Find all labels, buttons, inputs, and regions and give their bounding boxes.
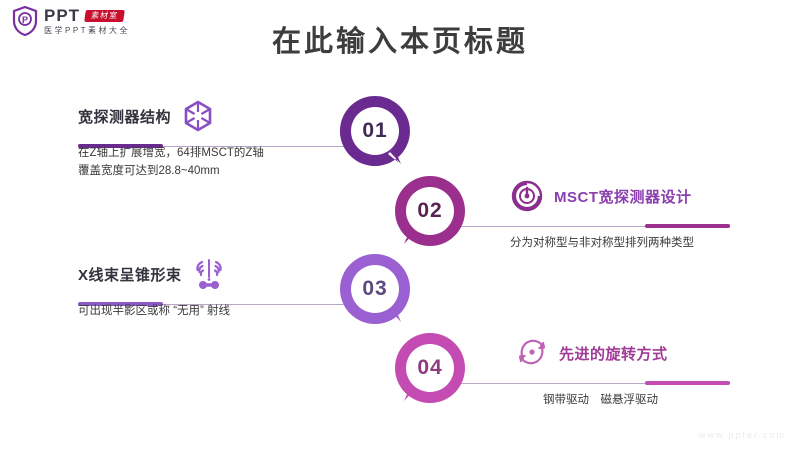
slide-canvas: P PPT 素材室 医学PPT素材大全 在此输入本页标题 宽探测器结构 bbox=[0, 0, 800, 450]
rotation-arrows-icon bbox=[515, 336, 549, 370]
content-block-01: 宽探测器结构 在Z轴上扩展增宽，64排MSCT的Z轴 覆盖宽度可达到28.8~4… bbox=[78, 96, 328, 180]
step-bubble-02[interactable]: 02 bbox=[393, 174, 467, 248]
step-number-01: 01 bbox=[338, 94, 412, 168]
step-bubble-03[interactable]: 03 bbox=[338, 252, 412, 326]
step-bubble-01[interactable]: 01 bbox=[338, 94, 412, 168]
block-body-03-line1: 可出现半影区或称 “无用” 射线 bbox=[78, 302, 328, 320]
scanner-gauge-icon bbox=[510, 179, 544, 213]
block-title-04: 先进的旋转方式 bbox=[559, 343, 668, 364]
block-body-01-line2: 覆盖宽度可达到28.8~40mm bbox=[78, 162, 328, 180]
watermark: www.ppter.com bbox=[699, 430, 786, 440]
content-block-02: MSCT宽探测器设计 分为对称型与非对称型排列两种类型 bbox=[510, 176, 780, 252]
block-body-01-line1: 在Z轴上扩展增宽，64排MSCT的Z轴 bbox=[78, 144, 328, 162]
content-block-04: 先进的旋转方式 钢带驱动 磁悬浮驱动 bbox=[515, 333, 785, 409]
block-title-01: 宽探测器结构 bbox=[78, 106, 171, 127]
page-title: 在此输入本页标题 bbox=[0, 18, 800, 60]
block-title-03: X线束呈锥形束 bbox=[78, 264, 182, 285]
step-bubble-04[interactable]: 04 bbox=[393, 331, 467, 405]
step-number-02: 02 bbox=[393, 174, 467, 248]
block-title-02: MSCT宽探测器设计 bbox=[554, 186, 692, 207]
block-body-02-line1: 分为对称型与非对称型排列两种类型 bbox=[510, 234, 780, 252]
content-block-03: X线束呈锥形束 可出现半影区或称 “无用” 射线 bbox=[78, 254, 328, 320]
step-number-04: 04 bbox=[393, 331, 467, 405]
block-body-04-line1: 钢带驱动 磁悬浮驱动 bbox=[543, 391, 785, 409]
ribcage-xray-icon bbox=[192, 257, 226, 291]
step-number-03: 03 bbox=[338, 252, 412, 326]
cube-icon bbox=[181, 99, 215, 133]
